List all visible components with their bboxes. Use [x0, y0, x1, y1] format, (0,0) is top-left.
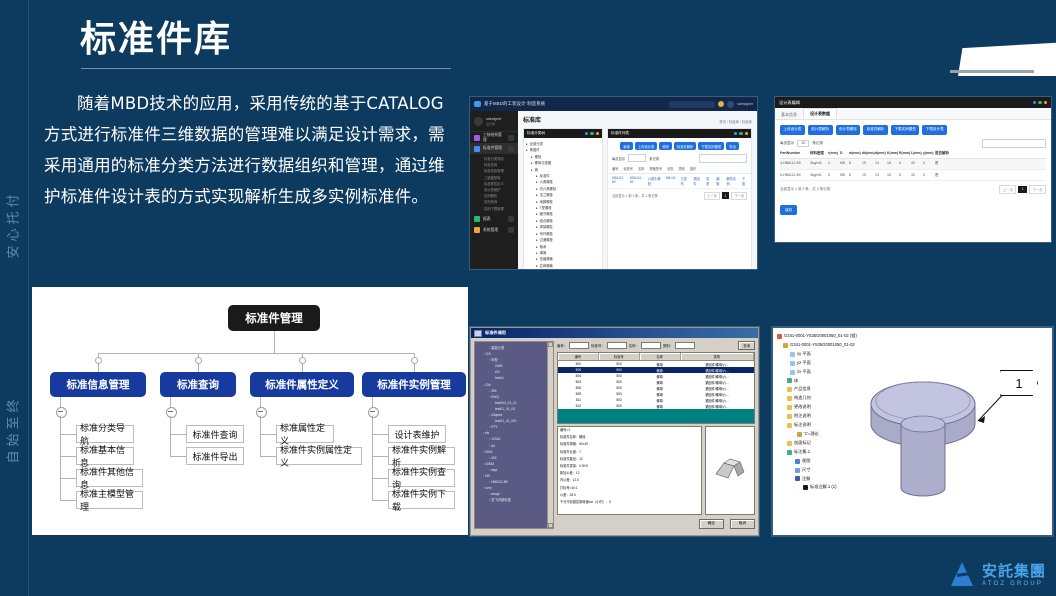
toolbar[interactable]: 新增上传设计表修改标准件解析下载实例模型导出 — [608, 138, 751, 153]
rail-text-bottom: 自始至终 — [3, 394, 22, 466]
b-table-body[interactable]: 4-HB6112-893kg/m34M881513186403是5-HB6112… — [780, 159, 1046, 181]
company-logo: 安託集團 ATOZ GROUP — [948, 562, 1046, 588]
dialog-filter-label: 名称： — [629, 343, 639, 348]
tree-label: 拉伸弹簧 — [540, 263, 553, 269]
diagram-collapse-icon[interactable] — [256, 407, 267, 418]
menu-badge — [508, 227, 514, 233]
dialog-filter-input[interactable] — [675, 342, 695, 349]
diagram-leaf[interactable]: 标准分类导航 — [76, 425, 134, 443]
design-col-header: d(mm) — [875, 151, 887, 156]
logo-text-cn: 安託集團 — [982, 564, 1046, 579]
dialog-list-col[interactable]: 类别 — [681, 353, 754, 360]
design-table-row[interactable]: 5-HB6112-893kg/m35M881513186403是 — [780, 170, 1046, 181]
app-header-right: sdesigner — [669, 101, 753, 108]
design-col-header: PartNumber — [780, 151, 810, 156]
toolbar-button[interactable]: 下载实例模型 — [698, 142, 724, 150]
design-toolbar-button[interactable]: 设计表解析 — [808, 125, 833, 135]
design-col-header: 材料密度 — [810, 151, 828, 156]
diagram-leaf-spine — [60, 416, 61, 500]
row-action[interactable]: 编辑 — [716, 176, 721, 186]
design-col-header: R(mm) — [899, 151, 911, 156]
dialog-list-col[interactable]: 标准号 — [599, 353, 640, 360]
save-button[interactable]: 保存 — [780, 205, 797, 215]
dialog-memo-line: 标准件长度：7 — [558, 449, 701, 456]
design-cell: 15 — [862, 173, 875, 178]
design-cell: 8 — [849, 161, 862, 166]
design-col-header: m(mm) — [849, 151, 862, 156]
design-pager-button[interactable]: 下一页 — [1029, 185, 1046, 194]
design-col-header: L(mm) — [911, 151, 923, 156]
pager-button[interactable]: 下一页 — [731, 192, 747, 200]
screenshot-legacy-dialog: 标准件调用 ▫ 智能分类▫ 123▫ 车型2069t03test01▫ 23#▫… — [470, 327, 759, 536]
dialog-icon — [474, 330, 482, 337]
ok-button[interactable]: 确定 — [699, 519, 724, 529]
sidebar-item-2[interactable]: 标准件管理 — [470, 143, 518, 154]
logo-mark-icon — [948, 562, 978, 588]
diagram-branch-3[interactable]: 标准件属性定义 — [250, 372, 354, 397]
diagram-leaf-line — [372, 478, 388, 479]
row-action[interactable]: 解析实例 — [726, 176, 736, 186]
row-action[interactable]: 下载 — [742, 176, 747, 186]
list-card: 标准件列表 新增上传设计表修改标准件解析下载实例模型导出 每页显示 条记录 — [607, 128, 752, 269]
corner-accent — [950, 40, 1056, 78]
sidebar-item-3[interactable]: 报表 — [470, 214, 518, 225]
diagram-leaf[interactable]: 标准件实例查询 — [388, 469, 455, 487]
submenu-item[interactable]: 实例下载管理 — [484, 206, 518, 212]
design-cell: 5-HB6112-89 — [780, 173, 810, 178]
design-col-header: y(mm) — [923, 151, 935, 156]
toolbar-button[interactable]: 上传设计表 — [635, 142, 657, 150]
table-cell: 六角头螺栓 — [648, 176, 661, 186]
design-toolbar-button[interactable]: 下载设计表 — [922, 125, 947, 135]
minimize-icon-2[interactable] — [734, 132, 738, 136]
list-card-header: 标准件列表 — [608, 129, 751, 138]
design-cell: M8 — [840, 161, 849, 166]
diagram-leaf[interactable]: 标准件查询 — [186, 425, 244, 443]
menu-label: 系统管理 — [483, 228, 498, 233]
dialog-memo-line: 打标号=40:1 — [558, 485, 701, 492]
menu-label: 报表 — [483, 217, 491, 222]
table-col-header: 操作 — [690, 166, 696, 171]
b-page-size-select[interactable]: 10 — [797, 140, 809, 147]
bell-icon[interactable] — [718, 101, 724, 107]
maximize-icon[interactable] — [590, 132, 594, 136]
dialog-filter-row[interactable]: 编号：标准号：名称：类别：查询 — [557, 341, 755, 350]
diagram-branch-knob — [299, 357, 306, 364]
sidebar-item-4[interactable]: 系统管理 — [470, 225, 518, 236]
design-cell: M8 — [840, 173, 849, 178]
dialog-memo-line: 标准件名称：螺栓 — [558, 434, 701, 441]
app-search-input[interactable] — [669, 101, 715, 108]
design-pager-button[interactable]: 1 — [1018, 186, 1027, 194]
screenshot-cad-viewer: G341-0001-Y535G0001050_01-02 (锁)G341-000… — [772, 327, 1053, 536]
dialog-query-button[interactable]: 查询 — [738, 341, 755, 350]
page-title: 标准件库 — [80, 10, 232, 62]
design-cell: 6 — [899, 161, 911, 166]
dialog-memo-line: 标准件规格：50×40 — [558, 441, 701, 448]
design-table-tabs[interactable]: 基本信息设计表数据 — [775, 108, 1051, 120]
dialog-titlebar: 标准件调用 — [471, 328, 758, 338]
row-action[interactable]: 查看 — [706, 176, 711, 186]
pager-button[interactable]: 1 — [722, 192, 730, 199]
callout-label: 1 — [1000, 370, 1038, 396]
design-col-header: r(mm) — [828, 151, 840, 156]
b-footer-text: 当前显示 1 到 2 条，共 2 条记录 — [780, 187, 830, 192]
category-tree[interactable]: ▸全部分类▸紧固件▸螺栓▸螺母与垫圈▸销▸标准件▸六角螺栓▸内六角螺栓▸法兰螺栓… — [524, 138, 602, 269]
diagram-leaf[interactable]: 设计表维护 — [388, 425, 446, 443]
design-toolbar-button[interactable]: 上传设计表 — [780, 125, 805, 135]
table-row[interactable]: HB6112-89HB6112-89六角头螺栓M8×40已发布紧固件查看编辑解析… — [608, 174, 751, 189]
page-size-row: 每页显示 条记录 — [608, 153, 751, 164]
window-dots-2 — [734, 132, 749, 136]
design-cell: 3 — [923, 161, 935, 166]
callout-balloon: 1 — [1000, 370, 1036, 394]
dialog-tree-node[interactable]: ▫ 富飞内部标准 — [477, 497, 551, 503]
table-col-header: 编号 — [612, 166, 618, 171]
slide-root: 安心托付 自始至终 标准件库 随着MBD技术的应用，采用传统的基于CATALOG… — [0, 0, 1056, 596]
dialog-memo-line: 标准件直径：12 — [558, 456, 701, 463]
diagram-branch-2[interactable]: 标准查询 — [160, 372, 236, 397]
menu-badge — [508, 216, 514, 222]
table-cell: M8×40 — [666, 176, 676, 186]
dialog-list-cell: 紧固件/螺母/六... — [680, 403, 754, 409]
table-col-header: 标准号 — [623, 166, 633, 171]
design-cell: 6 — [899, 173, 911, 178]
design-table-toolbar[interactable]: 上传设计表设计表解析设计表删除标准件解析下载实例模型下载设计表 — [775, 120, 1051, 138]
part-preview-icon — [710, 454, 750, 486]
sidebar-submenu[interactable]: 标准分类导航标准查询标准信息管理三维模型库标准属性定义设计表维护实例解析实例查询… — [470, 154, 518, 214]
close-icon-2[interactable] — [745, 132, 749, 136]
app-main: 标准库 首页 / 标准库 / 标准库 标准分类树 ▸全部 — [518, 111, 757, 269]
dialog-filter-label: 类别： — [663, 343, 673, 348]
tree-expand-icon[interactable]: ▸ — [531, 167, 533, 173]
diagram-leaf-line — [260, 434, 276, 435]
design-cell: 15 — [862, 161, 875, 166]
dialog-memo-line: 新加公差：12 — [558, 470, 701, 477]
toolbar-button[interactable]: 修改 — [659, 142, 672, 150]
design-cell: 4-HB6112-89 — [780, 161, 810, 166]
logo-text-en: ATOZ GROUP — [982, 581, 1046, 587]
app-sidebar: sdesigner 设计师 工装结构管理标准件管理标准分类导航标准查询标准信息管… — [470, 111, 518, 269]
dialog-memo-line: 内公差：12.5 — [558, 477, 701, 484]
diagram-branch-knob — [95, 357, 102, 364]
dialog-list-col[interactable]: 名称 — [640, 353, 681, 360]
table-footer: 当前显示 1 到 1 条，共 1 条记录 上一页1下一页 — [608, 189, 751, 203]
diagram-leaf-line — [170, 456, 186, 457]
tree-card-header: 标准分类树 — [524, 129, 602, 138]
diagram-leaf[interactable]: 标准件实例属性定义 — [276, 447, 362, 465]
corner-accent-bar — [950, 70, 1034, 73]
dialog-list-cell: 螺母 — [639, 403, 680, 409]
design-table-pagesize-row: 每页显示 10 条记录 — [775, 138, 1051, 151]
design-col-header: 是否解析 — [935, 151, 949, 156]
cad-model-3d — [773, 328, 1052, 535]
cancel-button[interactable]: 取消 — [730, 519, 755, 529]
dialog-memo-line: 编号=1 — [558, 427, 701, 434]
avatar[interactable] — [727, 101, 734, 108]
diagram-leaf-line — [60, 478, 76, 479]
diagram-leaf-line — [60, 456, 76, 457]
design-toolbar-button[interactable]: 设计表删除 — [836, 125, 861, 135]
b-table-footer: 当前显示 1 到 2 条，共 2 条记录 上一页1下一页 — [775, 181, 1051, 198]
design-table-titlebar: 设计表编辑 — [775, 97, 1051, 108]
table-col-header: 状态 — [667, 166, 673, 171]
table-footer-text: 当前显示 1 到 1 条，共 1 条记录 — [612, 193, 658, 198]
list-card-title: 标准件列表 — [611, 131, 629, 136]
dialog-memo-line: 标准件重量：0.0KG — [558, 463, 701, 470]
table-col-header: 规格型号 — [649, 166, 662, 171]
diagram-leaf[interactable]: 标准件其他信息 — [76, 469, 143, 487]
maximize-icon-3[interactable] — [1038, 101, 1042, 105]
breadcrumb: 首页 / 标准库 / 标准库 — [719, 119, 752, 124]
title-divider — [81, 68, 451, 69]
sidebar-user[interactable]: sdesigner 设计师 — [470, 111, 518, 132]
dialog-tree-scrollbar[interactable] — [547, 342, 553, 528]
tree-expand-icon[interactable]: ▸ — [536, 263, 538, 269]
diagram-leaf[interactable]: 标准件实例解析 — [388, 447, 455, 465]
dialog-list-col[interactable]: 编号 — [558, 353, 599, 360]
tree-node[interactable]: ▸拉伸弹簧 — [526, 263, 600, 269]
dialog-filter-label: 标准号： — [591, 343, 605, 348]
dialog-filter-input[interactable] — [641, 342, 661, 349]
app-title: 基于MBD的工装设计·制造系统 — [484, 101, 545, 107]
design-cell: 40 — [911, 173, 923, 178]
dialog-title: 标准件调用 — [485, 330, 506, 336]
b-table-header: PartNumber材料密度r(mm)Dm(mm)dk(mm)d(mm)K(mm… — [780, 151, 1046, 159]
org-diagram-card: 标准件管理 标准信息管理标准分类导航标准基本信息标准件其他信息标准主模型管理标准… — [32, 287, 468, 535]
design-pager-button[interactable]: 上一页 — [999, 185, 1016, 194]
list-search-input[interactable] — [699, 154, 747, 163]
menu-badge — [508, 146, 514, 152]
diagram-branch-1[interactable]: 标准信息管理 — [50, 372, 146, 397]
sidebar-user-name: sdesigner — [486, 117, 502, 122]
dialog-list-cell: 503 — [599, 403, 640, 409]
menu-label: 标准件管理 — [483, 146, 502, 151]
b-page-size-label: 每页显示 — [780, 141, 794, 146]
dialog-preview — [705, 426, 755, 515]
scroll-down-icon[interactable] — [548, 523, 553, 528]
design-cell: 是 — [935, 161, 949, 166]
app-page-title: 标准库 — [523, 115, 541, 124]
design-cell: 8 — [849, 173, 862, 178]
sidebar-item-1[interactable]: 工装结构管理 — [470, 132, 518, 143]
design-cell: 3 — [923, 173, 935, 178]
scroll-up-icon[interactable] — [548, 342, 553, 347]
design-cell: 3kg/m3 — [810, 161, 828, 166]
diagram-leaf[interactable]: 标准件导出 — [186, 447, 244, 465]
diagram-branch-4[interactable]: 标准件实例管理 — [362, 372, 466, 397]
toolbar-button[interactable]: 导出 — [726, 142, 739, 150]
pager-button[interactable]: 上一页 — [704, 192, 720, 200]
design-cell: 18 — [887, 161, 899, 166]
design-table-row[interactable]: 4-HB6112-893kg/m34M881513186403是 — [780, 159, 1046, 170]
maximize-icon-2[interactable] — [739, 132, 743, 136]
diagram-leaf-line — [60, 434, 76, 435]
design-col-header: D — [840, 151, 849, 156]
toolbar-button[interactable]: 标准件解析 — [674, 142, 696, 150]
dialog-tree[interactable]: ▫ 智能分类▫ 123▫ 车型2069t03test01▫ 23#▫ 356▫ … — [474, 341, 554, 529]
dialog-list-row[interactable]: 512503螺母紧固件/螺母/六... — [558, 403, 754, 409]
window-dots — [585, 132, 600, 136]
diagram-root-node: 标准件管理 — [228, 305, 320, 331]
b-page-size-unit: 条记录 — [812, 141, 823, 146]
app-logo-icon — [474, 101, 481, 107]
table-col-header: 名称 — [638, 166, 644, 171]
dialog-result-list[interactable]: 编号标准号名称类别 502503螺母紧固件/螺母/六...505503螺母紧固件… — [557, 352, 755, 424]
design-cell: 3kg/m3 — [810, 173, 828, 178]
diagram-leaf[interactable]: 标准属性定义 — [276, 425, 334, 443]
design-table-tab[interactable]: 设计表数据 — [803, 108, 837, 119]
dialog-list-body[interactable]: 502503螺母紧固件/螺母/六...505503螺母紧固件/螺母/六...50… — [558, 361, 754, 409]
diagram-leaf-line — [372, 434, 388, 435]
sidebar-user-role: 设计师 — [486, 122, 502, 126]
tree-card-title: 标准分类树 — [527, 131, 545, 136]
menu-icon — [474, 216, 480, 222]
diagram-leaf-line — [372, 500, 388, 501]
dialog-memo[interactable]: 编号=1标准件名称：螺栓标准件规格：50×40标准件长度：7标准件直径：12标准… — [557, 426, 702, 515]
screenshot-web-app: 基于MBD的工装设计·制造系统 sdesigner sdesigner 设计师 … — [470, 97, 757, 269]
table-cell: 紧固件 — [693, 176, 701, 186]
table-cell: HB6112-89 — [630, 176, 643, 186]
design-toolbar-button[interactable]: 下载实例模型 — [891, 125, 919, 135]
body-paragraph: 随着MBD技术的应用，采用传统的基于CATALOG方式进行标准件三维数据的管理难… — [44, 88, 454, 212]
b-pager[interactable]: 上一页1下一页 — [999, 185, 1046, 194]
app-header: 基于MBD的工装设计·制造系统 sdesigner — [470, 97, 757, 111]
diagram-leaf-line — [372, 456, 388, 457]
menu-icon — [474, 135, 480, 141]
design-cell: 40 — [911, 161, 923, 166]
toolbar-button[interactable]: 新增 — [620, 142, 633, 150]
design-cell: 4 — [828, 161, 840, 166]
design-cell: 5 — [828, 173, 840, 178]
b-search-input[interactable] — [982, 139, 1046, 148]
menu-label: 工装结构管理 — [483, 133, 505, 143]
tree-expand-icon[interactable]: ▸ — [526, 147, 528, 153]
page-size-label: 每页显示 — [612, 156, 625, 161]
design-col-header: dk(mm) — [862, 151, 875, 156]
design-cell: 13 — [875, 161, 887, 166]
diagram-leaf-spine — [260, 416, 261, 456]
design-cell: 13 — [875, 173, 887, 178]
diagram-leaf[interactable]: 标准主模型管理 — [76, 491, 143, 509]
diagram-leaf-line — [60, 500, 76, 501]
table-cell: 已发布 — [681, 176, 689, 186]
diagram-leaf[interactable]: 标准基本信息 — [76, 447, 134, 465]
dialog-filter-input[interactable] — [569, 342, 589, 349]
page-size-select[interactable] — [628, 154, 646, 162]
close-icon-3[interactable] — [1044, 101, 1048, 105]
table-col-header: 类别 — [678, 166, 684, 171]
design-table-title: 设计表编辑 — [779, 100, 800, 106]
menu-icon — [474, 227, 480, 233]
diagram-leaf-spine — [372, 416, 373, 500]
dialog-memo-line: 公差：28.5 — [558, 492, 701, 499]
diagram-leaf-line — [170, 434, 186, 435]
design-col-header: K(mm) — [887, 151, 899, 156]
table-header: 编号标准号名称规格型号状态类别操作 — [608, 164, 751, 174]
dialog-filter-label: 编号： — [557, 343, 567, 348]
page-size-unit: 条记录 — [649, 156, 659, 161]
minimize-icon[interactable] — [585, 132, 589, 136]
diagram-collapse-icon[interactable] — [56, 407, 67, 418]
menu-icon — [474, 146, 480, 152]
dialog-filter-input[interactable] — [607, 342, 627, 349]
sidebar-avatar-icon — [474, 117, 483, 126]
diagram-bus — [98, 353, 414, 354]
close-icon[interactable] — [596, 132, 600, 136]
pager[interactable]: 上一页1下一页 — [704, 192, 747, 200]
table-cell: HB6112-89 — [612, 176, 625, 186]
diagram-branch-knob — [411, 357, 418, 364]
tree-card: 标准分类树 ▸全部分类▸紧固件▸螺栓▸螺母与垫圈▸销▸标准件▸六角螺栓▸内六角螺… — [523, 128, 603, 269]
app-user-name: sdesigner — [737, 102, 753, 106]
diagram-root-stem — [274, 331, 275, 353]
menu-badge — [508, 135, 514, 141]
design-table-tab[interactable]: 基本信息 — [775, 110, 803, 119]
diagram-collapse-icon[interactable] — [368, 407, 379, 418]
design-cell: 是 — [935, 173, 949, 178]
diagram-branch-knob — [195, 357, 202, 364]
rail-text-top: 安心托付 — [3, 189, 22, 261]
minimize-icon-3[interactable] — [1033, 101, 1037, 105]
diagram-collapse-icon[interactable] — [166, 407, 177, 418]
window-dots-3 — [1033, 101, 1048, 105]
dialog-list-header: 编号标准号名称类别 — [558, 353, 754, 361]
diagram-leaf-spine — [170, 416, 171, 456]
diagram-leaf[interactable]: 标准件实例下载 — [388, 491, 455, 509]
screenshot-design-table: 设计表编辑 基本信息设计表数据 上传设计表设计表解析设计表删除标准件解析下载实例… — [775, 97, 1051, 242]
diagram-leaf-line — [260, 456, 276, 457]
design-toolbar-button[interactable]: 标准件解析 — [863, 125, 888, 135]
dialog-list-cell: 512 — [558, 403, 599, 409]
left-rail: 安心托付 自始至终 — [0, 0, 29, 596]
dialog-memo-line: 千分尺标题控制转速toe（小时）：5 — [558, 499, 701, 506]
design-cell: 18 — [887, 173, 899, 178]
